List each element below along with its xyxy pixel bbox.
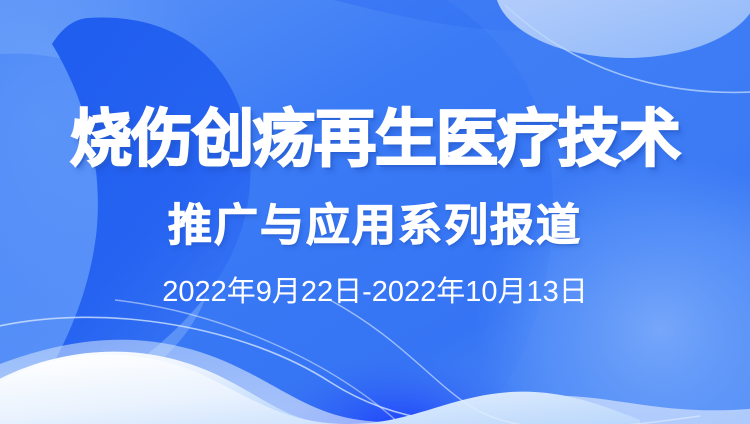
date-range-label: 2022年9月22日-2022年10月13日	[0, 274, 750, 310]
promo-banner: 烧伤创疡再生医疗技术 推广与应用系列报道 2022年9月22日-2022年10月…	[0, 0, 750, 424]
sub-title: 推广与应用系列报道	[0, 199, 750, 253]
banner-content: 烧伤创疡再生医疗技术 推广与应用系列报道 2022年9月22日-2022年10月…	[0, 0, 750, 424]
main-title: 烧伤创疡再生医疗技术	[0, 104, 750, 176]
